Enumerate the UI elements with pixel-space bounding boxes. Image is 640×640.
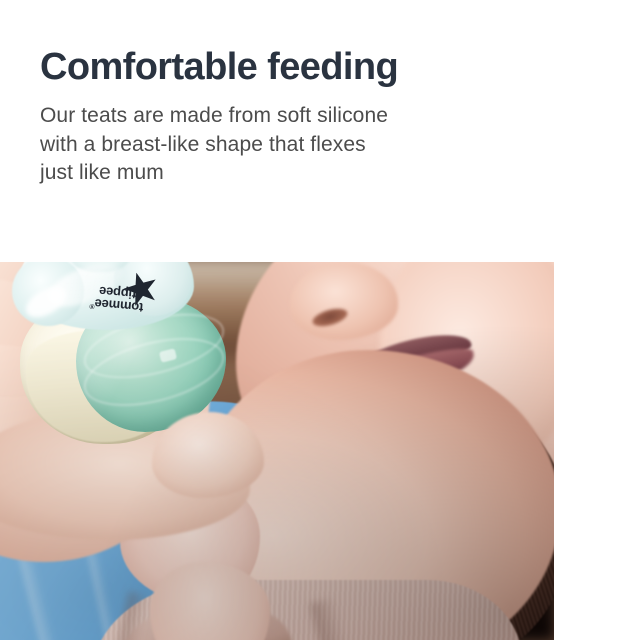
subtitle-line-2: with a breast-like shape that flexes (40, 131, 540, 160)
parent-nose (290, 262, 398, 340)
subtitle-paragraph: Our teats are made from soft silicone wi… (40, 102, 540, 188)
subtitle-line-1: Our teats are made from soft silicone (40, 102, 540, 131)
subtitle-line-3: just like mum (40, 159, 540, 188)
product-lifestyle-photo: tommee® tippee (0, 262, 554, 640)
promo-card: Comfortable feeding Our teats are made f… (0, 0, 640, 640)
page-title: Comfortable feeding (40, 44, 540, 90)
text-block: Comfortable feeding Our teats are made f… (40, 44, 540, 188)
